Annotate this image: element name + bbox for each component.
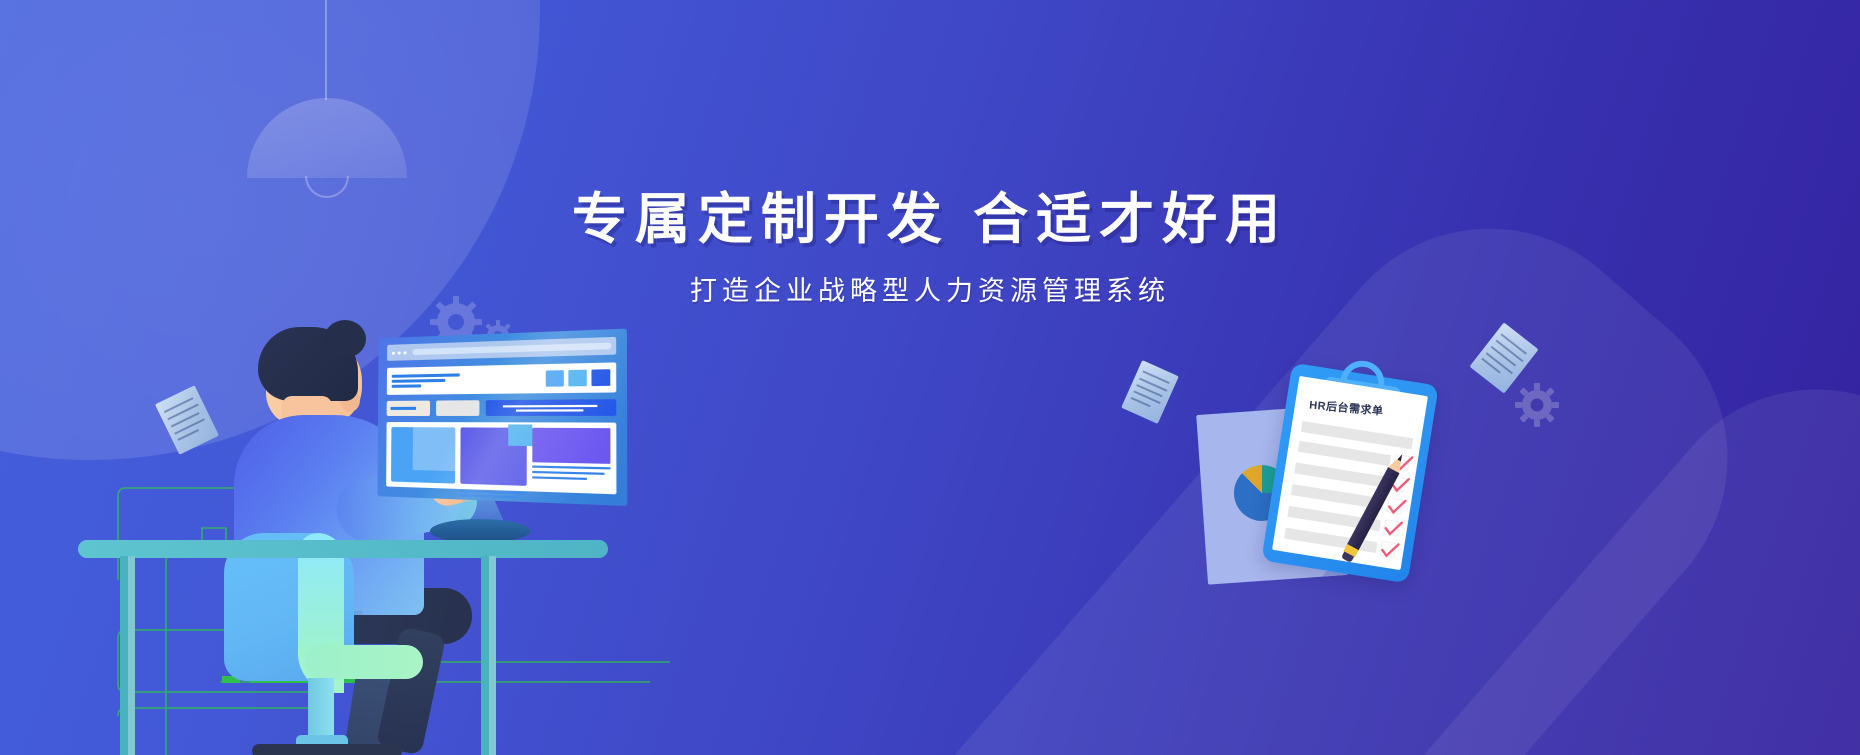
screen-card: [460, 427, 527, 485]
screen-card: [391, 427, 455, 484]
browser-titlebar: [387, 337, 616, 361]
check-icon: [1385, 495, 1408, 518]
desk-leg-highlight: [489, 556, 496, 755]
banner-text-block: 专属定制开发 合适才好用 打造企业战略型人力资源管理系统: [0, 192, 1860, 308]
person-hair-bun: [324, 320, 366, 358]
monitor-frame: [377, 329, 627, 506]
screen-chip-row: [387, 399, 617, 416]
screen-chip-primary: [486, 399, 617, 416]
clipboard-illustration: HR后台需求单: [1240, 355, 1490, 605]
hero-banner: HR后台需求单: [0, 0, 1860, 755]
checkbox[interactable]: [1386, 497, 1403, 514]
check-icon: [1378, 539, 1401, 562]
screen-header-text-lines: [392, 373, 460, 387]
gear-right-icon: [1515, 383, 1559, 427]
clipboard-title: HR后台需求单: [1309, 396, 1385, 418]
window-dot-icon: [398, 351, 401, 354]
screen-chip: [387, 401, 430, 416]
window-dot-icon: [404, 351, 407, 354]
desk-surface: [78, 540, 608, 558]
chair-base-legs: [252, 744, 402, 755]
checkbox[interactable]: [1379, 541, 1396, 558]
screen-header-tiles: [546, 369, 611, 387]
monitor-screen: [377, 329, 627, 506]
lamp-cord: [325, 0, 327, 100]
clipboard: HR后台需求单: [1261, 363, 1438, 584]
desk-leg-highlight: [128, 556, 135, 755]
checkbox[interactable]: [1383, 519, 1400, 536]
screen-header-row: [387, 362, 616, 395]
check-icon: [1381, 517, 1404, 540]
screen-chip: [436, 400, 479, 416]
address-bar: [412, 343, 611, 356]
banner-headline: 专属定制开发 合适才好用: [0, 192, 1860, 247]
screen-card: [532, 428, 610, 489]
screen-content-row: [386, 422, 616, 494]
chair-seat: [305, 645, 423, 679]
chair-stem: [308, 678, 334, 740]
banner-subtitle: 打造企业战略型人力资源管理系统: [0, 269, 1860, 308]
window-dot-icon: [392, 351, 395, 354]
